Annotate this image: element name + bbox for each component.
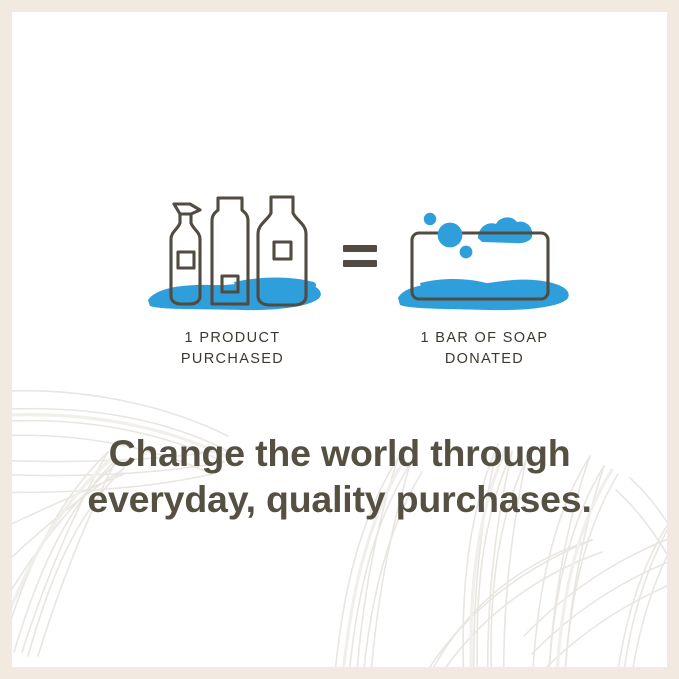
caption-line-2: PURCHASED (181, 351, 284, 367)
caption-line-1: 1 BAR OF SOAP (421, 330, 549, 346)
bubble-small-top (423, 213, 435, 225)
poster-canvas: 1 PRODUCT PURCHASED (12, 12, 667, 667)
headline-line-1: Change the world through (12, 430, 667, 476)
headline-line-2: everyday, quality purchases. (12, 476, 667, 522)
caption-line-2: DONATED (445, 351, 524, 367)
soap-donated-block: 1 BAR OF SOAP DONATED (372, 190, 597, 369)
caption-line-1: 1 PRODUCT (185, 330, 281, 346)
headline: Change the world through everyday, quali… (12, 430, 667, 522)
three-bottles-icon (138, 190, 328, 320)
bubble-large (437, 223, 462, 248)
soap-donated-caption: 1 BAR OF SOAP DONATED (372, 328, 597, 369)
comparison-row: 1 PRODUCT PURCHASED (12, 190, 667, 380)
soap-bar-icon (390, 190, 580, 320)
bubble-small-bottom (459, 246, 472, 259)
product-purchased-block: 1 PRODUCT PURCHASED (120, 190, 345, 369)
product-purchased-caption: 1 PRODUCT PURCHASED (120, 328, 345, 369)
poster-frame: 1 PRODUCT PURCHASED (0, 0, 679, 679)
